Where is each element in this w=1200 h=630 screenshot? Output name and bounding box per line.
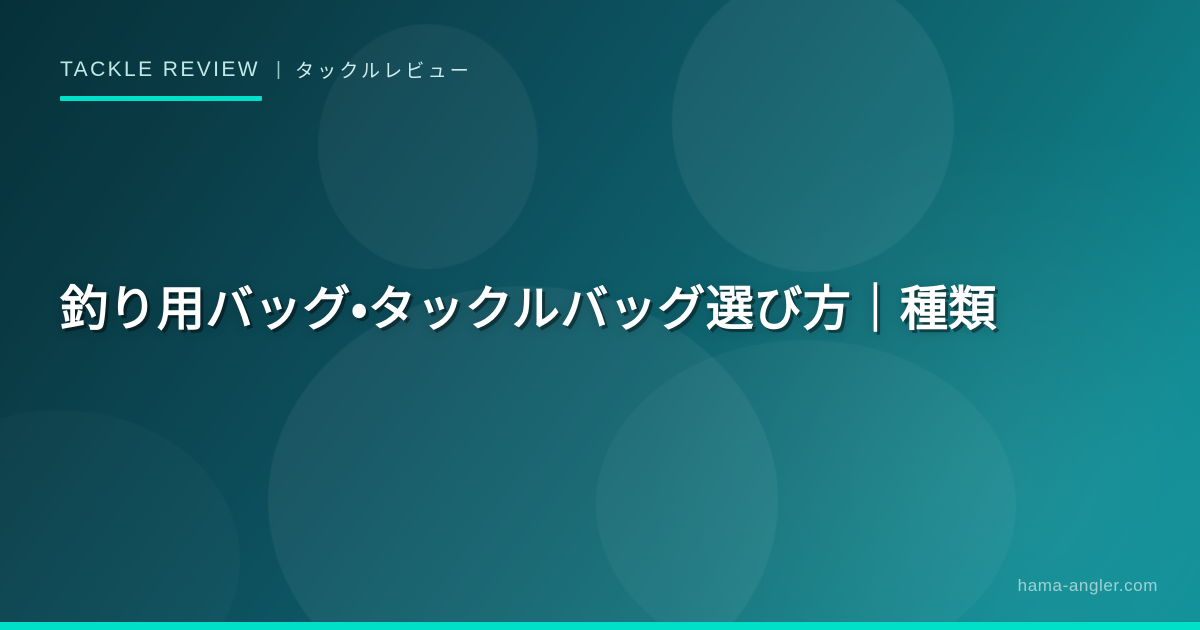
banner-content: TACKLE REVIEW | タックルレビュー 釣り用バッグ・タックルバッグ選… (0, 0, 1200, 630)
page-title: 釣り用バッグ・タックルバッグ選び方｜種類 (60, 278, 1140, 341)
og-banner: TACKLE REVIEW | タックルレビュー 釣り用バッグ・タックルバッグ選… (0, 0, 1200, 630)
bottom-accent-bar (0, 622, 1200, 630)
site-domain-watermark: hama-angler.com (1018, 576, 1158, 596)
category-label-ja: タックルレビュー (295, 56, 472, 83)
category-eyebrow: TACKLE REVIEW | タックルレビュー (60, 56, 472, 83)
category-separator: | (276, 59, 281, 81)
accent-underline (60, 96, 262, 101)
category-label-en: TACKLE REVIEW (60, 58, 260, 82)
